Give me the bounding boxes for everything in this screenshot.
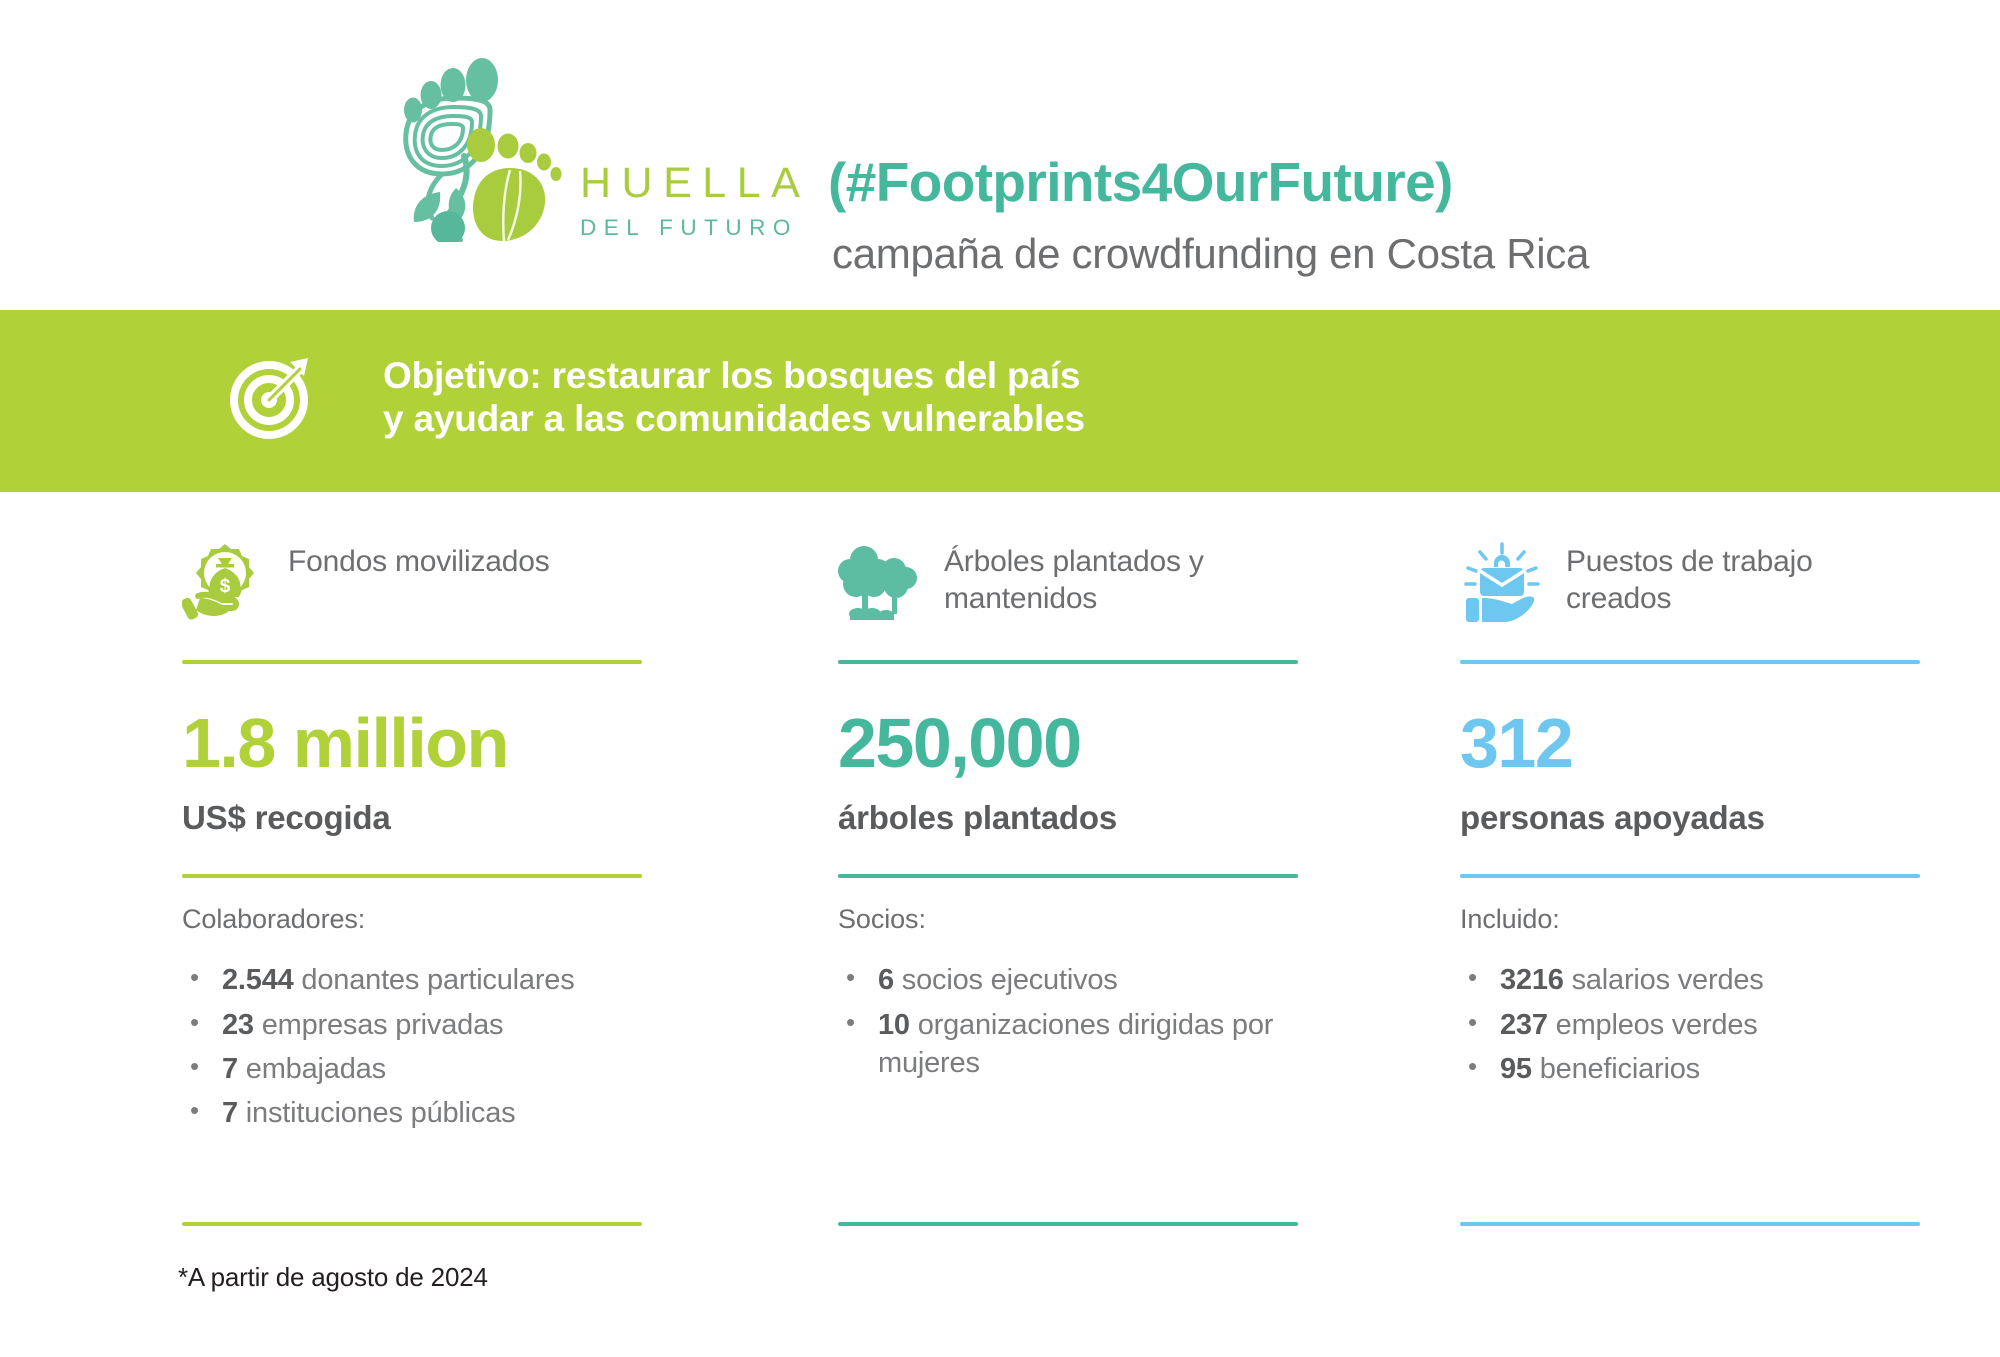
divider-bottom-jobs	[1460, 1222, 1920, 1226]
divider-bottom-funds	[182, 1222, 642, 1226]
detail-list: 6 socios ejecutivos 10 organizaciones di…	[838, 961, 1298, 1082]
footprint-leaf-logo-icon	[398, 52, 578, 242]
column-title: Fondos movilizados	[288, 540, 550, 581]
list-heading: Colaboradores:	[182, 904, 642, 935]
page-title: (#Footprints4OurFuture)	[828, 150, 1453, 214]
list-item: 2.544 donantes particulares	[182, 961, 642, 999]
big-number: 1.8 million	[182, 708, 642, 778]
objective-line-1: Objetivo: restaurar los bosques del país	[383, 355, 1085, 398]
big-number-label: árboles plantados	[838, 800, 1298, 836]
objective-text: Objetivo: restaurar los bosques del país…	[383, 355, 1085, 441]
big-number-label: personas apoyadas	[1460, 800, 1920, 836]
divider-middle	[1460, 874, 1920, 878]
detail-list: 2.544 donantes particulares 23 empresas …	[182, 961, 642, 1132]
list-heading: Incluido:	[1460, 904, 1920, 935]
logo-wordmark: HUELLA DEL FUTURO	[580, 162, 820, 240]
big-number: 312	[1460, 708, 1920, 778]
divider-top	[838, 660, 1298, 664]
column-header: Puestos de trabajo creados	[1460, 540, 1920, 660]
divider-middle	[182, 874, 642, 878]
logo-word: HUELLA	[580, 162, 820, 205]
list-item: 7 embajadas	[182, 1050, 642, 1088]
trees-icon	[838, 540, 924, 626]
stat-column-jobs: Puestos de trabajo creados 312 personas …	[1460, 540, 1920, 1094]
brand-logo: HUELLA DEL FUTURO	[398, 52, 818, 272]
divider-bottom-trees	[838, 1222, 1298, 1226]
stat-column-trees: Árboles plantados y mantenidos 250,000 á…	[838, 540, 1298, 1088]
list-item: 6 socios ejecutivos	[838, 961, 1298, 999]
logo-subword: DEL FUTURO	[580, 217, 820, 240]
divider-top	[1460, 660, 1920, 664]
target-arrow-icon	[228, 352, 316, 440]
briefcase-hand-icon	[1460, 540, 1546, 626]
footnote: *A partir de agosto de 2024	[178, 1262, 488, 1293]
list-item: 7 instituciones públicas	[182, 1094, 642, 1132]
list-item: 95 beneficiarios	[1460, 1050, 1920, 1088]
column-header: Árboles plantados y mantenidos	[838, 540, 1298, 660]
list-item: 10 organizaciones dirigidas por mujeres	[838, 1006, 1298, 1083]
infographic-page: HUELLA DEL FUTURO (#Footprints4OurFuture…	[0, 0, 2000, 1357]
list-heading: Socios:	[838, 904, 1298, 935]
list-item: 237 empleos verdes	[1460, 1006, 1920, 1044]
column-title: Puestos de trabajo creados	[1566, 540, 1920, 618]
page-subtitle: campaña de crowdfunding en Costa Rica	[832, 230, 1589, 278]
stat-column-funds: $ Fondos movilizados 1.8 million US$ rec…	[182, 540, 642, 1138]
money-bag-hand-gear-icon: $	[182, 540, 268, 626]
list-item: 23 empresas privadas	[182, 1006, 642, 1044]
big-number: 250,000	[838, 708, 1298, 778]
list-item: 3216 salarios verdes	[1460, 961, 1920, 999]
header: HUELLA DEL FUTURO (#Footprints4OurFuture…	[0, 0, 2000, 310]
objective-line-2: y ayudar a las comunidades vulnerables	[383, 398, 1085, 441]
svg-text:$: $	[220, 576, 231, 597]
column-title: Árboles plantados y mantenidos	[944, 540, 1298, 618]
big-number-label: US$ recogida	[182, 800, 642, 836]
divider-middle	[838, 874, 1298, 878]
column-header: $ Fondos movilizados	[182, 540, 642, 660]
detail-list: 3216 salarios verdes 237 empleos verdes …	[1460, 961, 1920, 1088]
divider-top	[182, 660, 642, 664]
